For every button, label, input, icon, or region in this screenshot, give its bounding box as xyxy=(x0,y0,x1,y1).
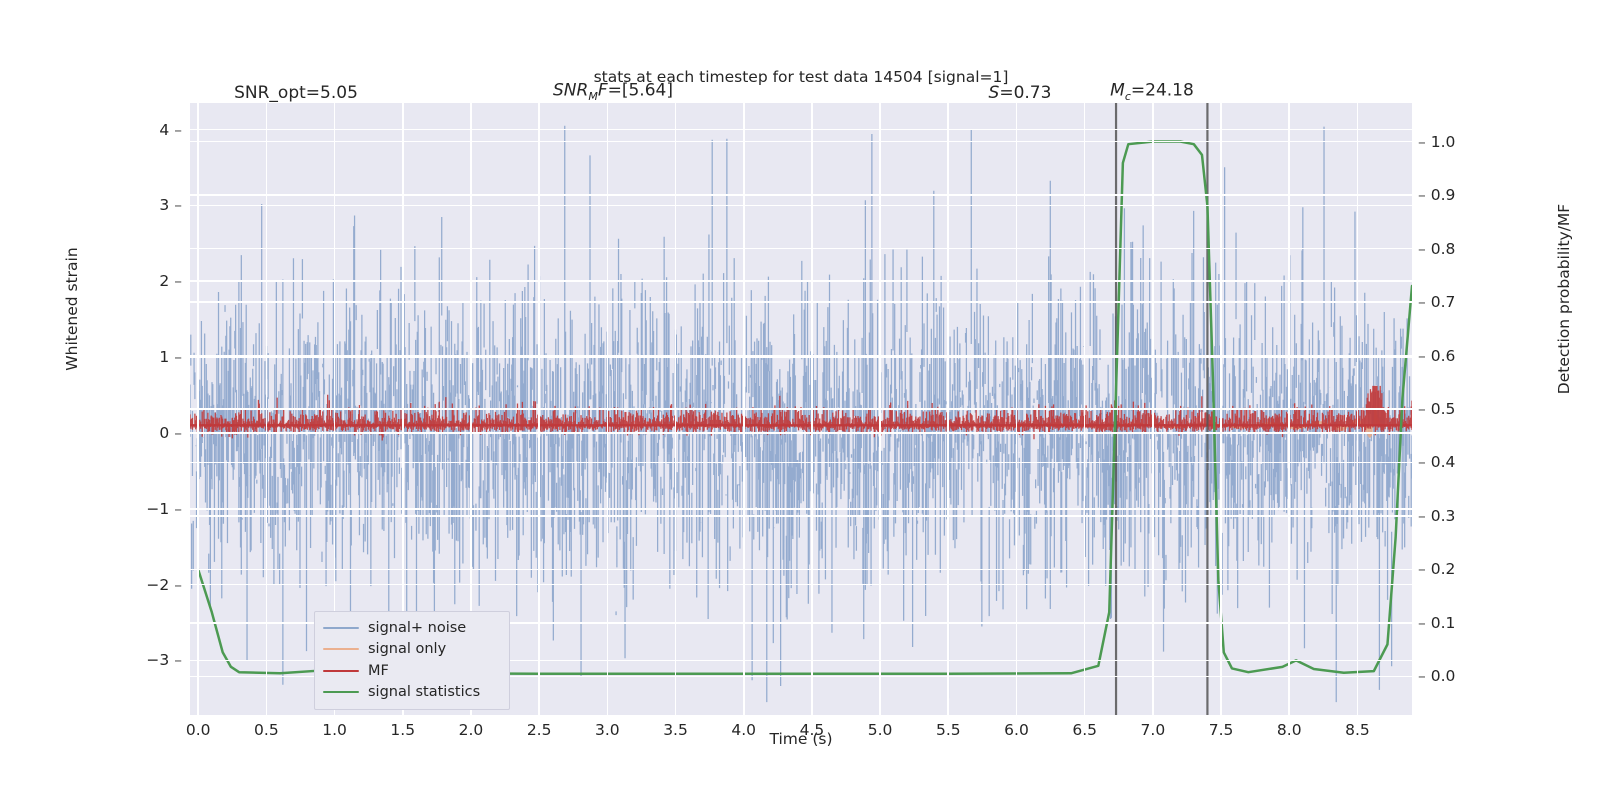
y-axis-label-left: Whitened strain xyxy=(63,179,81,439)
gridline-y-3 xyxy=(190,515,1412,517)
legend-label-1: signal only xyxy=(368,641,446,657)
y-tick-left-3: 0– xyxy=(159,424,182,442)
legend-swatch-2 xyxy=(323,670,359,672)
legend[interactable]: signal+ noisesignal onlyMFsignal statist… xyxy=(314,611,510,710)
figure-canvas: stats at each timestep for test data 145… xyxy=(0,0,1600,800)
y-tick-right-3: –0.3 xyxy=(1418,507,1455,525)
legend-item-2[interactable]: MF xyxy=(323,660,501,682)
gridline-yl-1 xyxy=(190,584,1412,586)
y-tick-left-4: 1– xyxy=(159,348,182,366)
y-tick-right-4: –0.4 xyxy=(1418,453,1455,471)
gridline-yl-6 xyxy=(190,205,1412,207)
gridline-y-5 xyxy=(190,408,1412,410)
y-tick-right-0: –0.0 xyxy=(1418,667,1455,685)
x-axis-label: Time (s) xyxy=(190,730,1412,748)
y-tick-left-5: 2– xyxy=(159,272,182,290)
y-tick-right-5: –0.5 xyxy=(1418,400,1455,418)
annotation-chirp-mass: Mc=24.18 xyxy=(1110,81,1194,103)
y-tick-left-6: 3– xyxy=(159,196,182,214)
y-tick-right-7: –0.7 xyxy=(1418,293,1455,311)
gridline-y-8 xyxy=(190,248,1412,250)
y-tick-right-6: –0.6 xyxy=(1418,347,1455,365)
page-title: stats at each timestep for test data 145… xyxy=(190,68,1412,86)
annotation-snr-opt: SNR_opt=5.05 xyxy=(234,83,358,103)
legend-item-0[interactable]: signal+ noise xyxy=(323,617,501,639)
gridline-yl-3 xyxy=(190,432,1412,434)
legend-swatch-1 xyxy=(323,648,359,650)
gridline-yl-5 xyxy=(190,280,1412,282)
y-tick-right-8: –0.8 xyxy=(1418,240,1455,258)
y-tick-left-7: 4– xyxy=(159,121,182,139)
legend-label-3: signal statistics xyxy=(368,684,480,700)
legend-item-1[interactable]: signal only xyxy=(323,639,501,661)
gridline-y-4 xyxy=(190,462,1412,464)
legend-swatch-0 xyxy=(323,627,359,629)
legend-item-3[interactable]: signal statistics xyxy=(323,682,501,704)
y-tick-right-1: –0.1 xyxy=(1418,614,1455,632)
legend-swatch-3 xyxy=(323,691,359,693)
annotation-s-stat: S=0.73 xyxy=(989,83,1052,103)
y-tick-right-9: –0.9 xyxy=(1418,186,1455,204)
y-tick-right-10: –1.0 xyxy=(1418,133,1455,151)
y-tick-right-2: –0.2 xyxy=(1418,560,1455,578)
legend-label-0: signal+ noise xyxy=(368,620,466,636)
gridline-y-9 xyxy=(190,194,1412,196)
gridline-y-7 xyxy=(190,301,1412,303)
gridline-y-10 xyxy=(190,141,1412,143)
gridline-yl-7 xyxy=(190,129,1412,131)
gridline-yl-4 xyxy=(190,356,1412,358)
y-axis-label-right: Detection probability/MF xyxy=(1555,139,1573,459)
y-tick-left-1: −2– xyxy=(146,576,182,594)
gridline-y-2 xyxy=(190,569,1412,571)
legend-label-2: MF xyxy=(368,663,389,679)
gridline-yl-2 xyxy=(190,508,1412,510)
annotation-snr-mf: SNRMF=[5.64] xyxy=(553,81,673,103)
y-tick-left-2: −1– xyxy=(146,500,182,518)
y-tick-left-0: −3– xyxy=(146,651,182,669)
